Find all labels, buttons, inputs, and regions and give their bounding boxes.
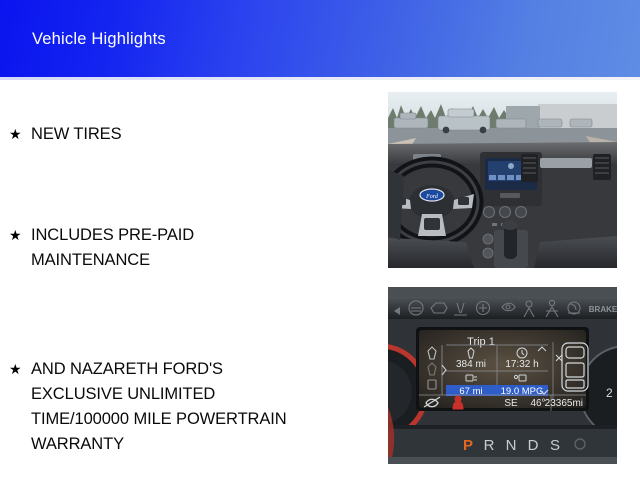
header-underline-divider	[0, 77, 640, 80]
star-bullet-icon: ★	[9, 122, 31, 147]
gear-indicator-s: S	[550, 437, 560, 454]
highlight-text: INCLUDES PRE-PAID MAINTENANCE	[31, 223, 194, 273]
page-title: Vehicle Highlights	[32, 30, 166, 49]
highlight-text: NEW TIRES	[31, 122, 121, 147]
compass-heading: SE	[504, 398, 518, 409]
gear-indicator-d: D	[528, 437, 539, 454]
star-bullet-icon: ★	[9, 357, 31, 382]
outside-temperature: 46°	[530, 398, 545, 409]
trip-economy: 19.0 MPG	[501, 386, 544, 397]
instrument-cluster-photo[interactable]: BRAKE 2 Trip 1	[388, 287, 617, 464]
star-bullet-icon: ★	[9, 223, 31, 248]
list-item: ★ AND NAZARETH FORD'S EXCLUSIVE UNLIMITE…	[0, 357, 378, 457]
trip-time: 17:32 h	[505, 359, 538, 370]
gear-indicator-r: R	[484, 437, 495, 454]
vehicle-highlights-list: ★ NEW TIRES ★ INCLUDES PRE-PAID MAINTENA…	[0, 95, 378, 457]
gear-indicator-n: N	[506, 437, 517, 454]
trip-range: 67 mi	[459, 386, 482, 397]
gear-indicator-p: P	[463, 437, 473, 454]
list-item: ★ INCLUDES PRE-PAID MAINTENANCE	[0, 223, 378, 273]
page-header: Vehicle Highlights	[0, 0, 640, 77]
svg-text:2: 2	[606, 386, 613, 400]
brake-telltale-label: BRAKE	[589, 305, 617, 314]
trip-distance: 384 mi	[456, 359, 486, 370]
list-item: ★ NEW TIRES	[0, 122, 378, 147]
svg-text:Ford: Ford	[425, 194, 439, 200]
trip-label: Trip 1	[467, 336, 495, 348]
odometer-reading: 23365mi	[545, 398, 583, 409]
vehicle-interior-photo[interactable]: Ford	[388, 92, 617, 268]
cluster-photo-graphic: BRAKE 2 Trip 1	[388, 287, 617, 464]
interior-photo-graphic: Ford	[388, 92, 617, 268]
highlight-text: AND NAZARETH FORD'S EXCLUSIVE UNLIMITED …	[31, 357, 287, 457]
